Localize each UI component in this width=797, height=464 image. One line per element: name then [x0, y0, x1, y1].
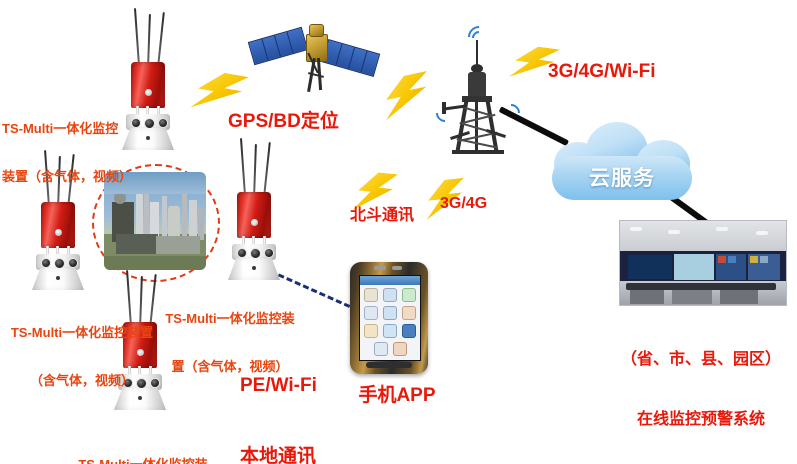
cloud-label: 云服务	[548, 162, 696, 192]
label-device-bottom-left: TS-Multi一体化监控装 置（含气体，视频）	[68, 424, 218, 464]
label-device-mid-left: TS-Multi一体化监控装置 （含气体，视频）	[2, 292, 162, 422]
label-device-top-left: TS-Multi一体化监控 装置（含气体，视频）	[2, 88, 134, 218]
label-device-center-line1: TS-Multi一体化监控装	[160, 311, 300, 327]
tower-signal-left-icon	[432, 100, 457, 125]
label-beidou: 北斗通讯	[350, 206, 430, 226]
label-local-communication: PE/Wi-Fi 本地通讯	[240, 326, 360, 464]
label-3g-4g: 3G/4G	[440, 194, 510, 214]
label-local-communication-line2: 本地通讯	[240, 445, 360, 464]
cloud-service-node[interactable]: 云服务	[548, 122, 696, 202]
control-room-photo	[619, 220, 787, 306]
handheld-pda-device[interactable]	[350, 262, 428, 374]
lightning-bolt-satellite-to-tower	[374, 71, 435, 121]
label-phone-app: 手机APP	[352, 384, 442, 408]
label-control-center: （省、市、县、园区） 在线监控预警系统	[608, 310, 794, 464]
satellite-icon	[250, 12, 376, 96]
label-control-center-line1: （省、市、县、园区）	[608, 350, 794, 370]
label-device-top-left-line1: TS-Multi一体化监控	[2, 121, 134, 137]
ts-multi-monitoring-device-center[interactable]	[218, 136, 290, 278]
label-local-communication-line1: PE/Wi-Fi	[240, 374, 360, 398]
label-device-bottom-left-line1: TS-Multi一体化监控装	[68, 457, 218, 464]
label-device-mid-left-line2: （含气体，视频）	[2, 373, 162, 389]
cell-tower-icon	[430, 22, 522, 164]
tower-signal-right-icon	[498, 100, 523, 125]
label-control-center-line2: 在线监控预警系统	[608, 410, 794, 430]
diagram-canvas: 云服务	[0, 0, 797, 464]
label-gps-bd: GPS/BD定位	[228, 110, 348, 134]
label-3g-4g-wifi: 3G/4G/Wi-Fi	[548, 60, 708, 84]
label-device-mid-left-line1: TS-Multi一体化监控装置	[2, 325, 162, 341]
label-device-top-left-line2: 装置（含气体，视频）	[2, 169, 134, 185]
